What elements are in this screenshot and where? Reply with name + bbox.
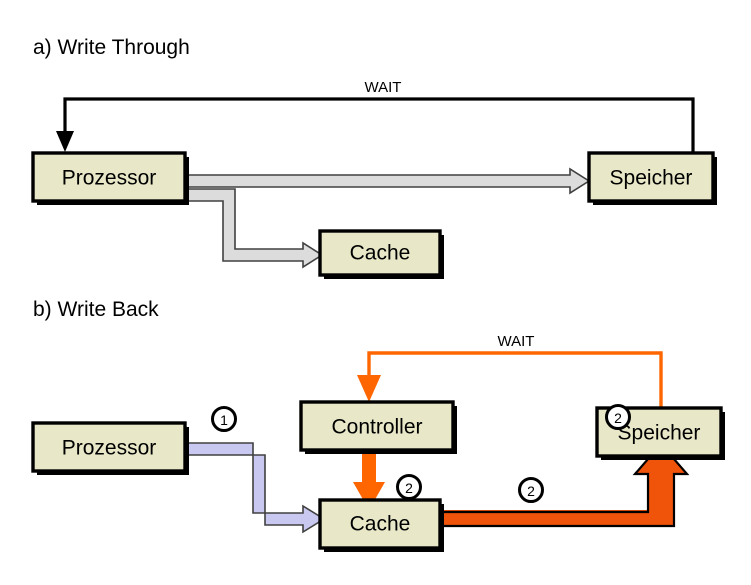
step-marker-2-wait-label: 2 — [614, 410, 622, 426]
step-marker-2-controller-label: 2 — [405, 480, 413, 496]
cache-label-b: Cache — [350, 513, 411, 536]
step-marker-2-wait: 2 — [607, 406, 630, 429]
processor-label-b: Prozessor — [62, 437, 157, 460]
wait-label-a: WAIT — [365, 79, 402, 96]
diagram-canvas: a) Write Through WAIT Prozessor Cache — [0, 0, 751, 580]
box-b-processor[interactable]: Prozessor — [33, 423, 189, 475]
memory-label-b: Speicher — [618, 422, 701, 445]
cache-write-policy-diagram: a) Write Through WAIT Prozessor Cache — [0, 0, 751, 580]
box-a-processor[interactable]: Prozessor — [33, 153, 189, 205]
step-marker-2-cache: 2 — [520, 479, 543, 502]
step-marker-1: 1 — [213, 408, 236, 431]
box-a-cache[interactable]: Cache — [320, 231, 444, 279]
wait-label-b: WAIT — [498, 333, 535, 350]
step-marker-2-controller: 2 — [398, 476, 421, 499]
section-b-title: b) Write Back — [33, 298, 159, 321]
section-a-title: a) Write Through — [33, 36, 190, 59]
controller-label-b: Controller — [331, 416, 422, 439]
step-marker-2-cache-label: 2 — [527, 483, 535, 499]
memory-label-a: Speicher — [610, 167, 693, 190]
box-b-cache[interactable]: Cache — [320, 500, 444, 552]
cache-label-a: Cache — [350, 242, 411, 265]
processor-label-a: Prozessor — [62, 167, 157, 190]
box-b-controller[interactable]: Controller — [301, 402, 457, 454]
box-a-memory[interactable]: Speicher — [589, 153, 717, 205]
step-marker-1-label: 1 — [220, 412, 228, 428]
